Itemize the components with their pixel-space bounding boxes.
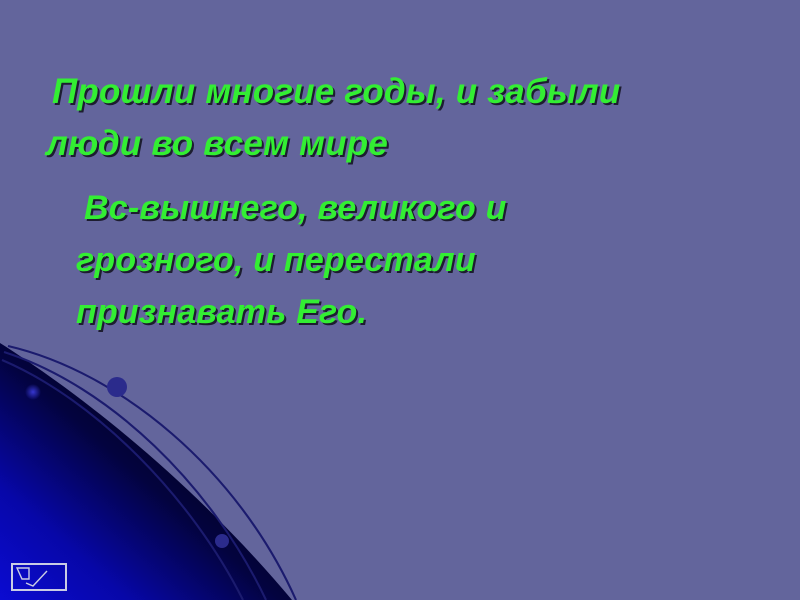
arc-outer bbox=[8, 346, 296, 600]
slide-paragraph-2: Вс-вышнего, великого и грозного, и перес… bbox=[0, 170, 800, 338]
glow-dot bbox=[25, 384, 41, 400]
corner-logo-badge[interactable] bbox=[11, 563, 67, 591]
slide-paragraph-1: Прошли многие годы, и забыли люди во все… bbox=[0, 0, 800, 170]
slide-text-block: Прошли многие годы, и забыли люди во все… bbox=[0, 0, 800, 338]
arc-dot-upper bbox=[107, 377, 127, 397]
arc-dot-lower bbox=[215, 534, 229, 548]
dark-blue-wedge bbox=[0, 343, 292, 600]
check-arrow-icon bbox=[13, 565, 65, 589]
presentation-slide: Прошли многие годы, и забыли люди во все… bbox=[0, 0, 800, 600]
